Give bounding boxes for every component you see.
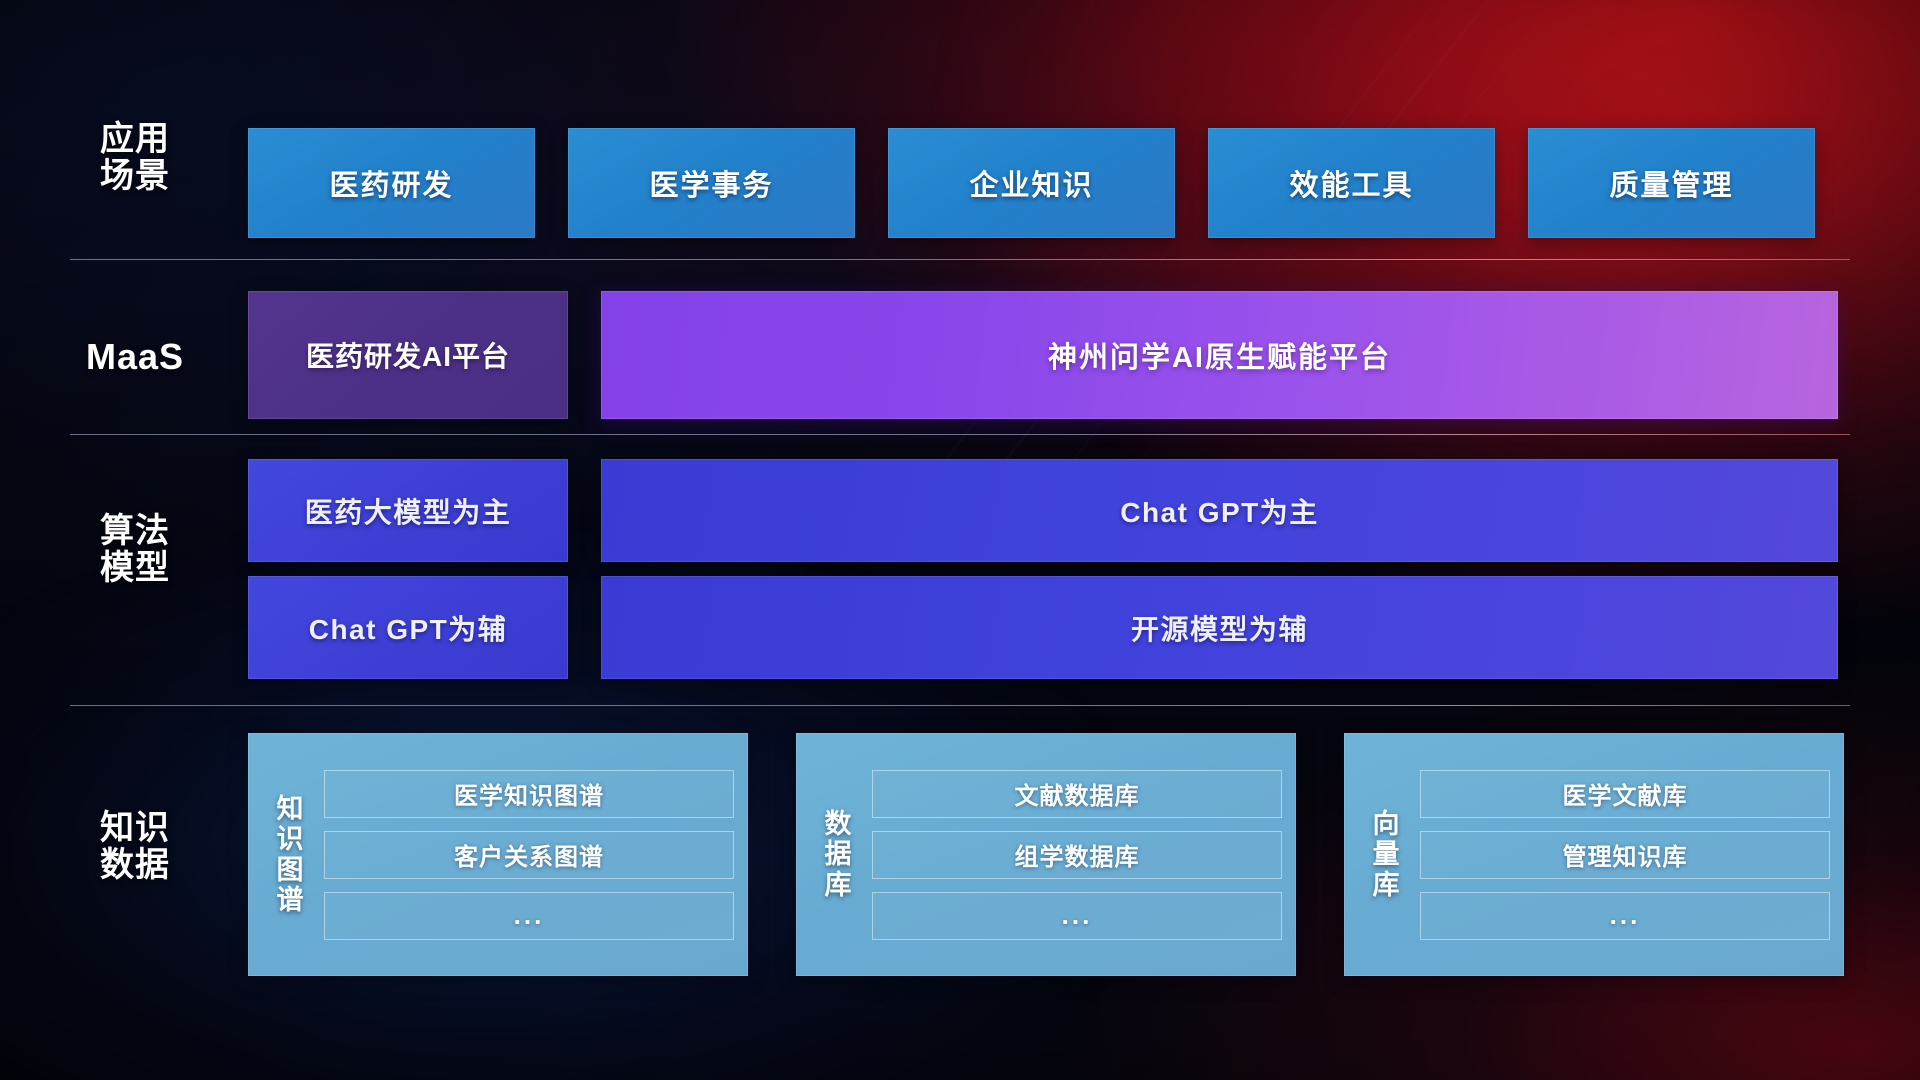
knowledge-item-more[interactable]: ... — [1420, 892, 1830, 940]
knowledge-item-more[interactable]: ... — [324, 892, 734, 940]
knowledge-item-more[interactable]: ... — [872, 892, 1282, 940]
scenario-box-quality-management[interactable]: 质量管理 — [1528, 128, 1815, 238]
algo-box-medicine-llm-primary[interactable]: 医药大模型为主 — [248, 459, 568, 562]
scenario-box-medical-affairs[interactable]: 医学事务 — [568, 128, 855, 238]
algo-box-label: 医药大模型为主 — [305, 491, 512, 531]
knowledge-data-groups: 知识图谱 医学知识图谱 客户关系图谱 ... 数据库 文献数据库 组学数据库 .… — [248, 733, 1844, 976]
knowledge-group-label: 数据库 — [804, 809, 872, 900]
knowledge-item-medical-knowledge-graph[interactable]: 医学知识图谱 — [324, 770, 734, 818]
algo-box-chatgpt-primary[interactable]: Chat GPT为主 — [601, 459, 1838, 562]
scenario-box-label: 医药研发 — [329, 162, 453, 204]
knowledge-group-knowledge-graph[interactable]: 知识图谱 医学知识图谱 客户关系图谱 ... — [248, 733, 748, 976]
algo-box-label: Chat GPT为辅 — [309, 608, 508, 648]
algorithm-row-secondary: Chat GPT为辅 开源模型为辅 — [248, 576, 1838, 679]
layer-label-application-scenarios: 应用 场景 — [60, 121, 210, 196]
scenario-box-label: 质量管理 — [1609, 162, 1733, 204]
knowledge-item-customer-relation-graph[interactable]: 客户关系图谱 — [324, 831, 734, 879]
scenario-box-label: 企业知识 — [969, 162, 1093, 204]
knowledge-group-items: 医学文献库 管理知识库 ... — [1420, 770, 1830, 940]
maas-box-medicine-ai-platform[interactable]: 医药研发AI平台 — [248, 291, 568, 419]
maas-box-label: 医药研发AI平台 — [306, 335, 510, 375]
knowledge-group-items: 医学知识图谱 客户关系图谱 ... — [324, 770, 734, 940]
maas-box-label: 神州问学AI原生赋能平台 — [1048, 334, 1391, 376]
application-scenario-boxes: 医药研发 医学事务 企业知识 效能工具 质量管理 — [248, 128, 1815, 238]
algorithm-model-boxes: 医药大模型为主 Chat GPT为主 Chat GPT为辅 开源模型为辅 — [248, 459, 1838, 679]
divider-2 — [70, 434, 1850, 435]
maas-boxes: 医药研发AI平台 神州问学AI原生赋能平台 — [248, 291, 1838, 419]
scenario-box-label: 医学事务 — [649, 162, 773, 204]
layer-label-line-1: 知识 — [60, 810, 210, 847]
algo-box-opensource-secondary[interactable]: 开源模型为辅 — [601, 576, 1838, 679]
algo-box-label: Chat GPT为主 — [1120, 491, 1319, 531]
layer-label-maas: MaaS — [60, 337, 210, 377]
knowledge-item-management-knowledge-store[interactable]: 管理知识库 — [1420, 831, 1830, 879]
scenario-box-efficiency-tools[interactable]: 效能工具 — [1208, 128, 1495, 238]
divider-1 — [70, 259, 1850, 260]
maas-box-shenzhou-wenxue-platform[interactable]: 神州问学AI原生赋能平台 — [601, 291, 1838, 419]
knowledge-group-label: 向量库 — [1352, 809, 1420, 900]
knowledge-group-items: 文献数据库 组学数据库 ... — [872, 770, 1282, 940]
knowledge-group-database[interactable]: 数据库 文献数据库 组学数据库 ... — [796, 733, 1296, 976]
layer-label-line-1: 应用 — [60, 121, 210, 158]
layer-label-text: MaaS — [60, 337, 210, 377]
scenario-box-enterprise-knowledge[interactable]: 企业知识 — [888, 128, 1175, 238]
layer-label-algorithm-models: 算法 模型 — [60, 513, 210, 588]
knowledge-group-label: 知识图谱 — [256, 794, 324, 915]
algo-box-chatgpt-secondary[interactable]: Chat GPT为辅 — [248, 576, 568, 679]
knowledge-item-omics-database[interactable]: 组学数据库 — [872, 831, 1282, 879]
layer-label-line-1: 算法 — [60, 513, 210, 550]
knowledge-item-medical-literature-store[interactable]: 医学文献库 — [1420, 770, 1830, 818]
algo-box-label: 开源模型为辅 — [1131, 608, 1308, 648]
layer-label-line-2: 场景 — [60, 158, 210, 195]
knowledge-group-vector-store[interactable]: 向量库 医学文献库 管理知识库 ... — [1344, 733, 1844, 976]
algorithm-row-primary: 医药大模型为主 Chat GPT为主 — [248, 459, 1838, 562]
layer-label-line-2: 数据 — [60, 847, 210, 884]
knowledge-item-literature-database[interactable]: 文献数据库 — [872, 770, 1282, 818]
architecture-diagram: 应用 场景 医药研发 医学事务 企业知识 效能工具 质量管理 MaaS 医药研发… — [0, 0, 1920, 1080]
divider-3 — [70, 705, 1850, 706]
layer-label-knowledge-data: 知识 数据 — [60, 810, 210, 885]
scenario-box-label: 效能工具 — [1289, 162, 1413, 204]
scenario-box-medicine-rd[interactable]: 医药研发 — [248, 128, 535, 238]
layer-label-line-2: 模型 — [60, 550, 210, 587]
